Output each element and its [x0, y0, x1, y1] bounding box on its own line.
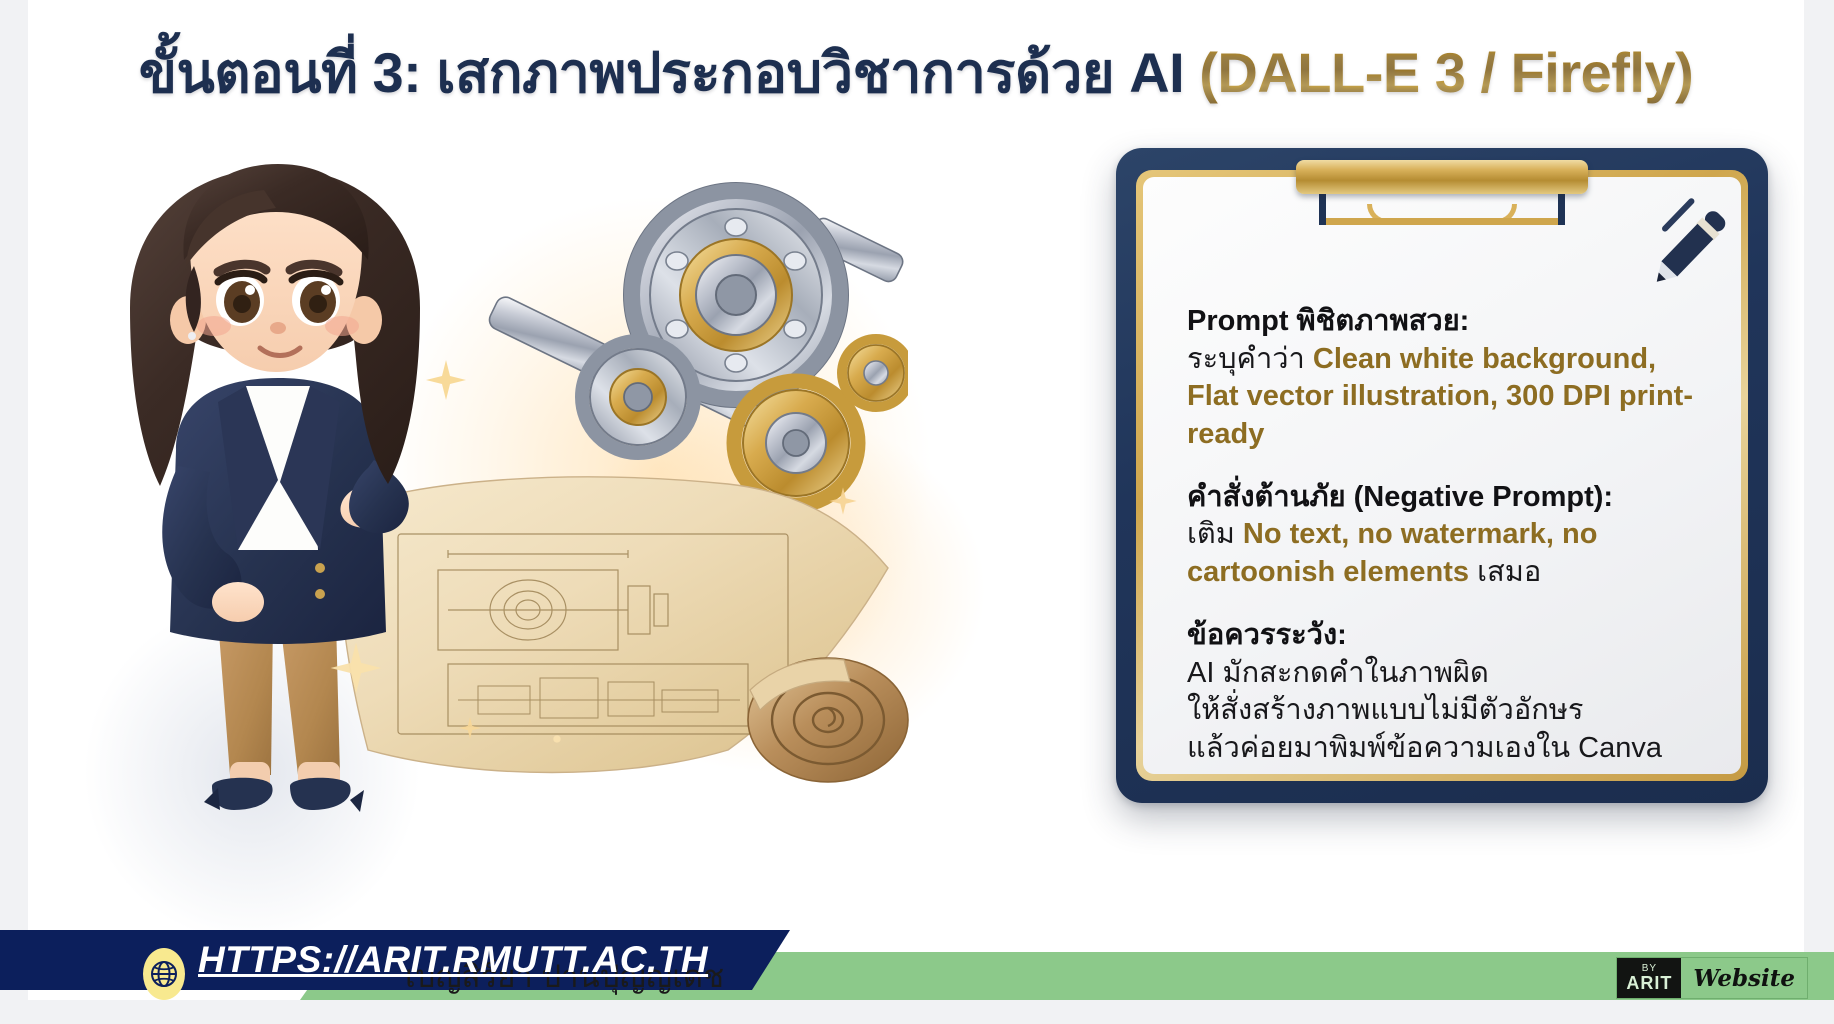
- pencil-icon: [1634, 194, 1742, 302]
- logo-by-label: BY: [1642, 964, 1657, 974]
- tip-block-negative-prompt: คำสั่งต้านภัย (Negative Prompt): เติม No…: [1187, 479, 1711, 592]
- warning-line: แล้วค่อยมาพิมพ์ข้อความเองใน Canva: [1187, 730, 1711, 768]
- globe-icon: [143, 948, 185, 1000]
- arit-website-logo: BY ARIT Website: [1616, 957, 1808, 999]
- clipboard-text-content: Prompt พิชิตภาพสวย: ระบุคำว่า Clean whit…: [1187, 303, 1711, 768]
- warning-line: AI มักสะกดคำในภาพผิด: [1187, 655, 1711, 693]
- tip-lead: ระบุคำว่า: [1187, 343, 1313, 375]
- site-url-link[interactable]: HTTPS://ARIT.RMUTT.AC.TH: [198, 930, 708, 990]
- tip-block-warning: ข้อควรระวัง: AI มักสะกดคำในภาพผิด ให้สั่…: [1187, 617, 1711, 768]
- tip-heading: Prompt พิชิตภาพสวย:: [1187, 303, 1711, 341]
- slide-canvas: ขั้นตอนที่ 3: เสกภาพประกอบวิชาการด้วย AI…: [28, 0, 1804, 1000]
- tip-body: เติม No text, no watermark, no cartoonis…: [1187, 516, 1711, 591]
- page-title: ขั้นตอนที่ 3: เสกภาพประกอบวิชาการด้วย AI…: [28, 28, 1804, 117]
- clipboard-clip-bar: [1296, 160, 1588, 194]
- logo-word-label: Website: [1681, 958, 1807, 998]
- warning-heading: ข้อควรระวัง:: [1187, 617, 1711, 655]
- tip-block-prompt: Prompt พิชิตภาพสวย: ระบุคำว่า Clean whit…: [1187, 303, 1711, 454]
- page-title-navy: ขั้นตอนที่ 3: เสกภาพประกอบวิชาการด้วย AI: [139, 41, 1200, 104]
- tip-heading: คำสั่งต้านภัย (Negative Prompt):: [1187, 479, 1711, 517]
- tip-tail: เสมอ: [1469, 556, 1541, 588]
- clipboard-panel: Prompt พิชิตภาพสวย: ระบุคำว่า Clean whit…: [1116, 148, 1768, 803]
- screenshot-root: ขั้นตอนที่ 3: เสกภาพประกอบวิชาการด้วย AI…: [0, 0, 1834, 1024]
- logo-org-label: ARIT: [1626, 974, 1672, 992]
- tip-body: ระบุคำว่า Clean white background, Flat v…: [1187, 341, 1711, 454]
- chibi-presenter-character: [68, 150, 488, 830]
- warning-line: ให้สั่งสร้างภาพแบบไม่มีตัวอักษร: [1187, 692, 1711, 730]
- clipboard-clip-jaw: [1312, 188, 1572, 232]
- page-title-gold: (DALL-E 3 / Firefly): [1199, 41, 1693, 104]
- tip-lead: เติม: [1187, 518, 1243, 550]
- logo-badge-arit: BY ARIT: [1617, 958, 1681, 998]
